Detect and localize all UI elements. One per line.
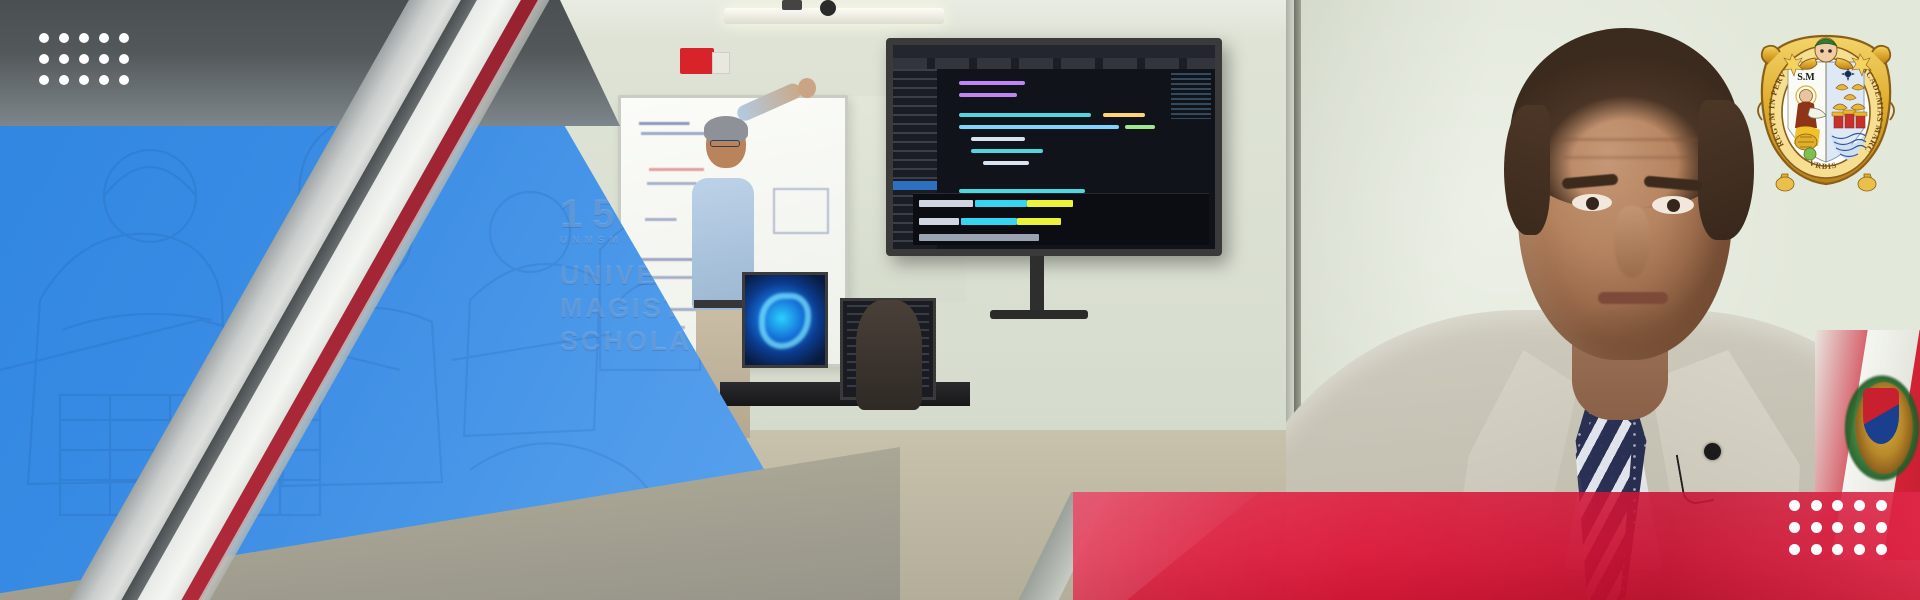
- windows-wallpaper-monitor: [742, 272, 828, 368]
- forehead-line: [1558, 138, 1698, 141]
- ide-terminal: [913, 193, 1209, 245]
- eye-right: [1652, 196, 1694, 214]
- unmsm-coat-of-arms: REGVM IN PERV ACADEMIAS MARCI VRBIS S.M: [1752, 24, 1900, 192]
- tv-stand: [1030, 256, 1044, 314]
- instructor-hand: [798, 78, 816, 98]
- chin-shadow: [1572, 300, 1692, 360]
- instructor-glasses-icon: [710, 140, 740, 147]
- ide-selected-file: [893, 181, 937, 190]
- code-display-tv: [886, 38, 1222, 256]
- broadcast-overlay-stage: 1551 UNMSM UNIVERSITAS MAGISTRORUM SCHOL…: [0, 0, 1920, 600]
- dot-grid-top-left-icon: [34, 28, 134, 90]
- instructor-hair: [704, 116, 748, 142]
- eye-left: [1572, 194, 1612, 211]
- wall-notice: [712, 52, 730, 74]
- whiteboard-diagram: [773, 188, 829, 234]
- svg-text:S.M: S.M: [1797, 72, 1815, 83]
- tv-base: [990, 310, 1088, 319]
- dot-grid-bottom-right-icon: [1784, 494, 1892, 560]
- tv-screen: [893, 45, 1215, 249]
- ide-tab-strip: [893, 58, 1215, 69]
- lapel-microphone-icon: [1704, 443, 1721, 460]
- tube-light-cap: [782, 0, 802, 10]
- ceiling-camera-icon: [820, 0, 836, 16]
- fire-sign: [680, 48, 714, 74]
- nose: [1614, 206, 1650, 278]
- ide-minimap: [1171, 73, 1211, 119]
- ide-code-area: [953, 77, 1159, 193]
- seated-student: [856, 300, 922, 410]
- hair-side-left: [1504, 105, 1550, 235]
- pupil-right: [1667, 199, 1680, 212]
- hair-side-right: [1698, 100, 1754, 240]
- flag-shield: [1863, 388, 1899, 444]
- forehead-line-2: [1564, 156, 1694, 159]
- ide-titlebar: [893, 45, 1215, 58]
- door-frame-shadow: [1294, 0, 1301, 470]
- pupil-left: [1586, 197, 1599, 210]
